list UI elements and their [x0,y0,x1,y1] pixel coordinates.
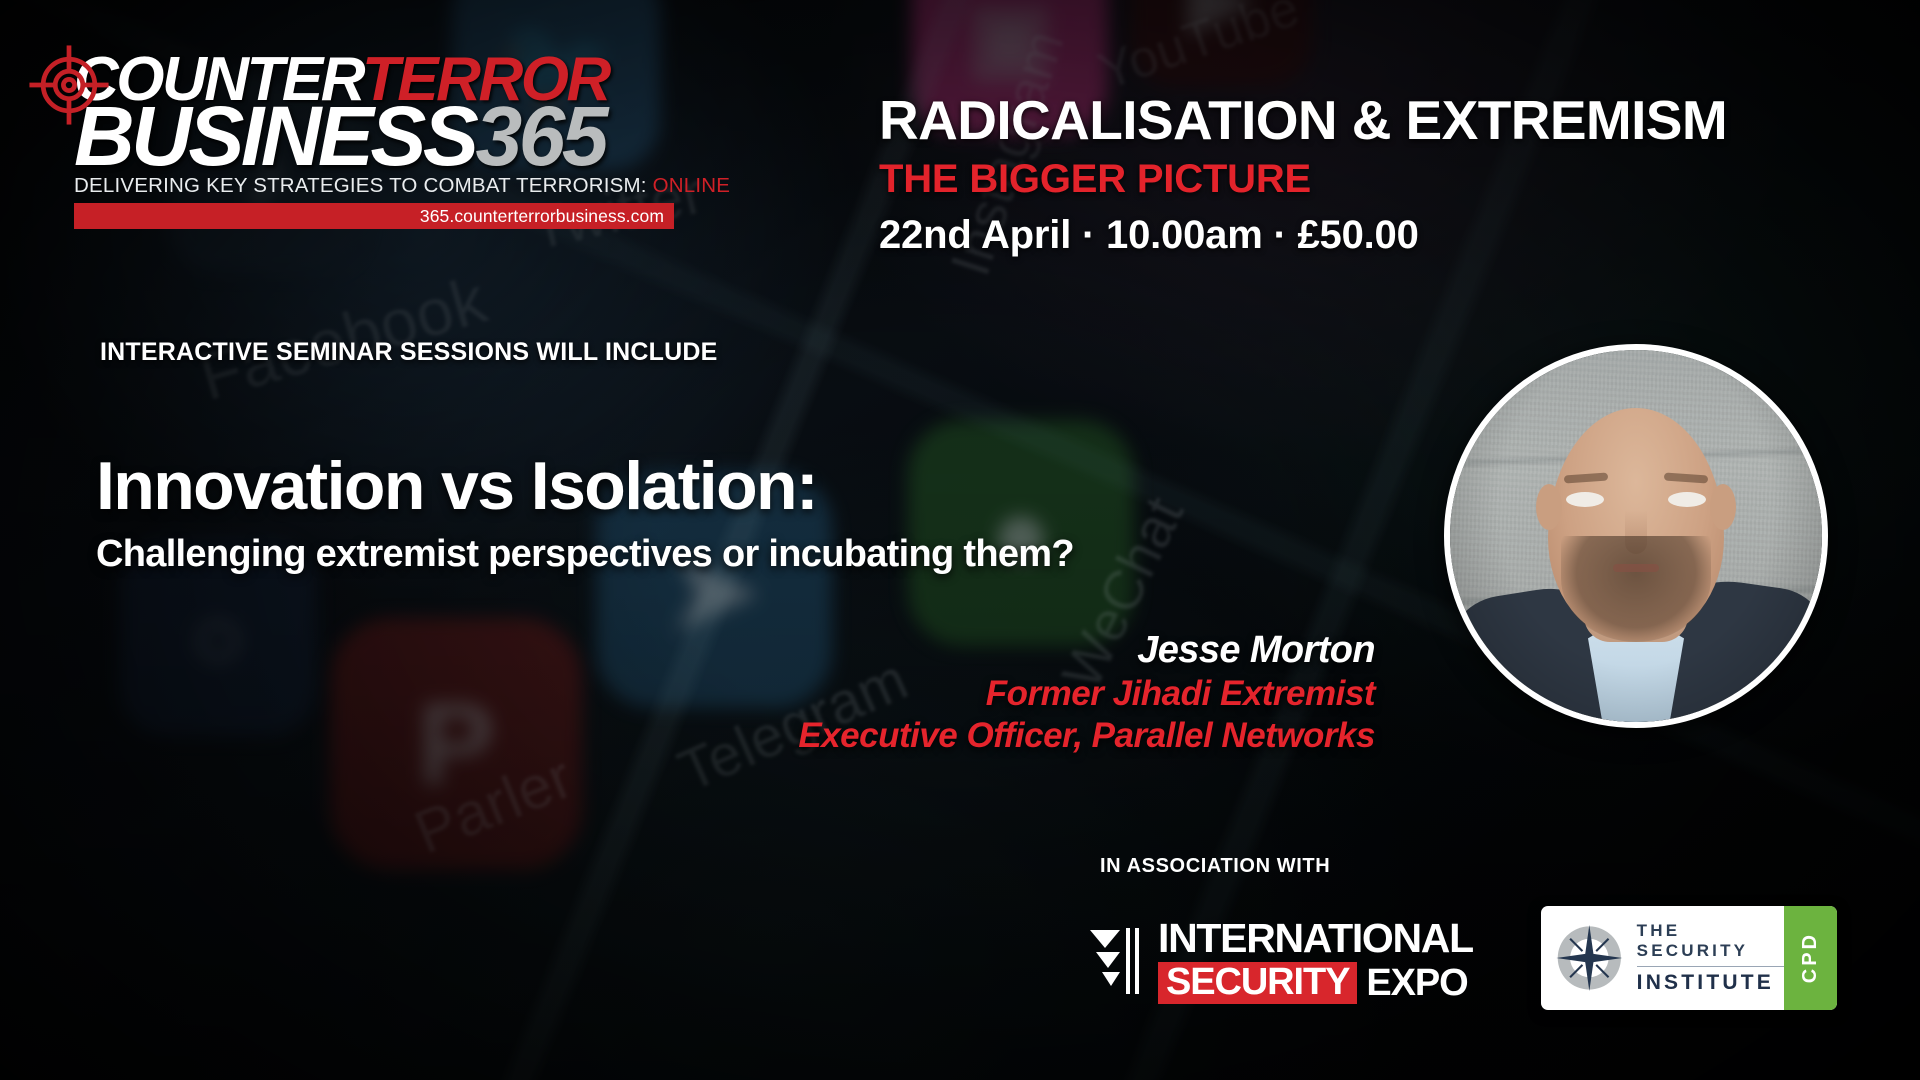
security-institute-divider [1637,966,1784,967]
ise-second-line: SECURITY EXPO [1158,962,1473,1004]
event-title: RADICALISATION & EXTREMISM [879,92,1727,148]
association-heading: IN ASSOCIATION WITH [1100,855,1330,878]
ise-security: SECURITY [1158,962,1357,1004]
logo-url: 365.counterterrorbusiness.com [420,206,664,227]
tagline-online: ONLINE [653,174,731,197]
promotional-poster: 🐦▣▶●P➤♪○ TwitterFacebookInstagramYouTube… [0,0,1920,1080]
sessions-kicker: INTERACTIVE SEMINAR SESSIONS WILL INCLUD… [100,338,718,367]
speaker-role-line-1: Former Jihadi Extremist [798,673,1375,715]
logo-365: 365 [475,89,605,183]
speaker-portrait [1444,344,1828,728]
tagline-main: DELIVERING KEY STRATEGIES TO COMBAT TERR… [74,174,647,197]
ise-wordmark: INTERNATIONAL SECURITY EXPO [1158,918,1473,1004]
security-institute-wordmark: THE SECURITY INSTITUTE [1637,921,1784,995]
event-headline: RADICALISATION & EXTREMISM THE BIGGER PI… [879,92,1727,260]
logo-tagline: DELIVERING KEY STRATEGIES TO COMBAT TERR… [74,174,674,198]
speaker-name: Jesse Morton [798,628,1375,673]
security-institute-main: THE SECURITY INSTITUTE [1541,906,1784,1010]
compass-rose-icon [1555,920,1624,996]
speaker-role-line-2: Executive Officer, Parallel Networks [798,715,1375,757]
international-security-expo-logo[interactable]: INTERNATIONAL SECURITY EXPO [1090,918,1473,1004]
ise-international: INTERNATIONAL [1158,918,1473,959]
session-block: Innovation vs Isolation: Challenging ext… [96,452,1074,576]
counter-terror-business-logo[interactable]: COUNTERTERROR BUSINESS365 DELIVERING KEY… [74,54,674,229]
ise-chevron-mark-icon [1090,926,1146,996]
event-subtitle: THE BIGGER PICTURE [879,154,1727,204]
session-title: Innovation vs Isolation: [96,452,1074,521]
event-details: 22nd April · 10.00am · £50.00 [879,210,1727,260]
security-institute-logo[interactable]: THE SECURITY INSTITUTE CPD [1541,906,1837,1010]
logo-line-two: BUSINESS365 [74,100,674,172]
ise-expo: EXPO [1366,964,1467,1002]
speaker-block: Jesse Morton Former Jihadi Extremist Exe… [798,628,1375,757]
security-institute-line-2: INSTITUTE [1637,971,1784,995]
crosshair-target-icon [26,42,112,128]
cpd-badge-label: CPD [1799,932,1822,983]
logo-business: BUSINESS [74,89,475,183]
logo-url-bar[interactable]: 365.counterterrorbusiness.com [74,203,674,229]
cpd-badge: CPD [1784,906,1837,1010]
security-institute-line-1: THE SECURITY [1637,921,1784,961]
portrait-shading [1450,350,1822,722]
session-subtitle: Challenging extremist perspectives or in… [96,533,1074,576]
